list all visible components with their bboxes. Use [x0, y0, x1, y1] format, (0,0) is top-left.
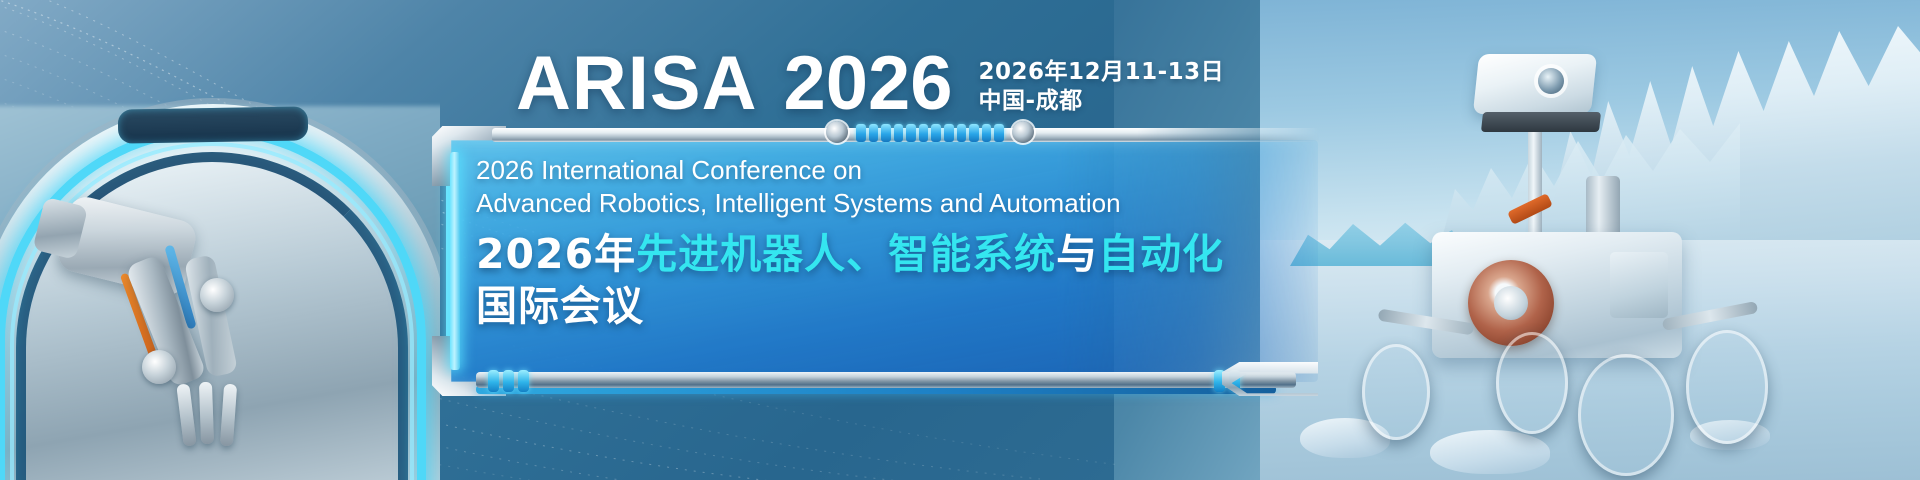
panel-bottom-rail: [476, 372, 1296, 388]
gripper-finger: [220, 384, 237, 447]
robot-arm-gripper: [176, 382, 254, 452]
english-title-line-1: 2026 International Conference on: [476, 154, 1276, 187]
robot-arm-joint-1: [200, 278, 234, 312]
left-robotic-arm-scene: [0, 96, 440, 480]
rover-camera-lens: [1538, 68, 1564, 94]
conference-location: 中国-成都: [979, 87, 1225, 116]
right-rover-scene: [1260, 0, 1920, 480]
english-title-line-2: Advanced Robotics, Intelligent Systems a…: [476, 187, 1276, 220]
rover-camera-head: [1473, 54, 1597, 114]
mars-rover: [1410, 24, 1810, 444]
rover-mast: [1528, 120, 1542, 238]
rover-chimney: [1586, 176, 1620, 238]
chinese-title-line-1: 2026年先进机器人、智能系统与自动化: [476, 229, 1276, 279]
date-location-block: 2026年12月11-13日 中国-成都: [979, 46, 1225, 117]
panel-text-block: 2026 International Conference on Advance…: [476, 154, 1276, 331]
rover-sensor-bar: [1481, 112, 1601, 132]
gripper-finger: [199, 382, 214, 444]
conference-acronym: ARISA: [516, 46, 757, 122]
chinese-title-highlight-2: 自动化: [1098, 230, 1224, 278]
panel-bottom-segments-left: [488, 370, 529, 392]
banner-headline: ARISA 2026 2026年12月11-13日 中国-成都: [516, 46, 1224, 122]
chinese-title-conjunction: 与: [1056, 230, 1098, 278]
rover-wheel: [1362, 344, 1430, 440]
conference-year: 2026: [783, 46, 952, 122]
conference-banner: ARISA 2026 2026年12月11-13日 中国-成都 2026 Int: [0, 0, 1920, 480]
rover-side-panel: [1610, 252, 1668, 318]
chinese-title-year: 2026年: [476, 230, 636, 278]
robot-arm-joint-2: [142, 350, 176, 384]
arch-top-cap: [118, 106, 309, 143]
panel-left-light-bar: [450, 152, 460, 370]
chinese-title-line-2: 国际会议: [476, 281, 1276, 331]
chinese-title-highlight-1: 先进机器人、智能系统: [636, 230, 1056, 278]
title-panel: 2026 International Conference on Advance…: [432, 126, 1332, 396]
rover-drum-core: [1494, 286, 1528, 320]
conference-date: 2026年12月11-13日: [979, 58, 1225, 87]
rover-wheel: [1686, 330, 1768, 444]
connector-light-bars: [856, 124, 1004, 142]
rover-wheel: [1578, 354, 1674, 476]
rover-wheel: [1496, 332, 1568, 434]
panel-top-connector: [822, 117, 1038, 147]
connector-node-left: [826, 121, 848, 143]
connector-node-right: [1012, 121, 1034, 143]
gripper-finger: [176, 383, 196, 446]
